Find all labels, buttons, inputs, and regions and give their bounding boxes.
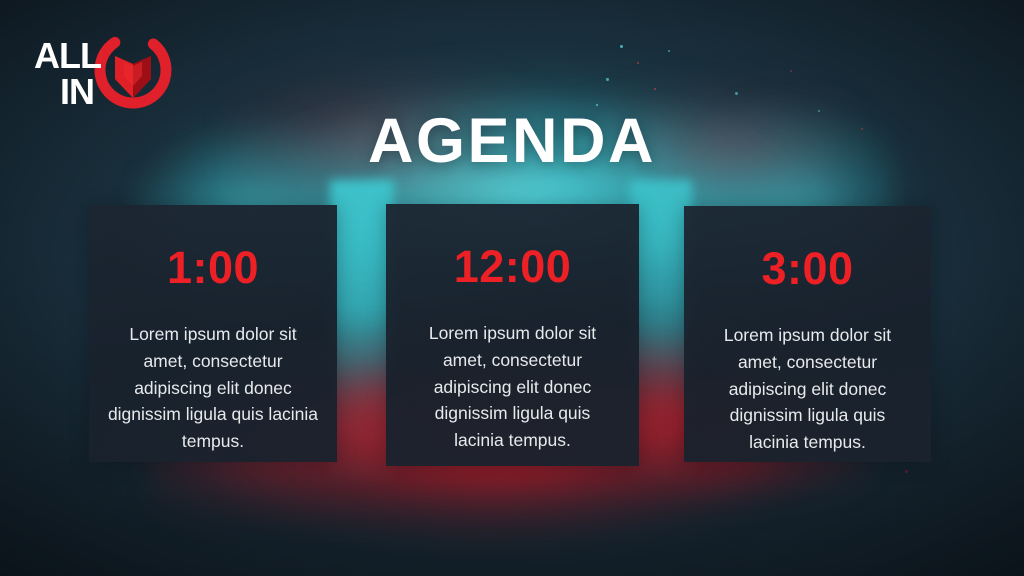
presentation-slide: ALL IN AGENDA 1:00 Lorem ipsum dolor sit… xyxy=(0,0,1024,576)
agenda-card-body: Lorem ipsum dolor sit amet, consectetur … xyxy=(103,321,323,455)
logo-text-all: ALL xyxy=(34,35,101,76)
circle-arrow-shield-icon: ALL IN xyxy=(30,28,182,110)
agenda-card[interactable]: 3:00 Lorem ipsum dolor sit amet, consect… xyxy=(684,206,931,462)
brand-logo[interactable]: ALL IN xyxy=(30,28,182,110)
page-title: AGENDA xyxy=(0,110,1024,173)
agenda-card[interactable]: 1:00 Lorem ipsum dolor sit amet, consect… xyxy=(89,205,337,462)
agenda-card-time: 12:00 xyxy=(400,244,625,289)
page-title-text: AGENDA xyxy=(368,110,656,173)
agenda-card[interactable]: 12:00 Lorem ipsum dolor sit amet, consec… xyxy=(386,204,639,466)
agenda-card-body: Lorem ipsum dolor sit amet, consectetur … xyxy=(400,320,625,454)
agenda-card-time: 1:00 xyxy=(103,245,323,290)
logo-text-in: IN xyxy=(60,71,94,110)
agenda-card-body: Lorem ipsum dolor sit amet, consectetur … xyxy=(698,322,917,456)
agenda-card-time: 3:00 xyxy=(698,246,917,291)
